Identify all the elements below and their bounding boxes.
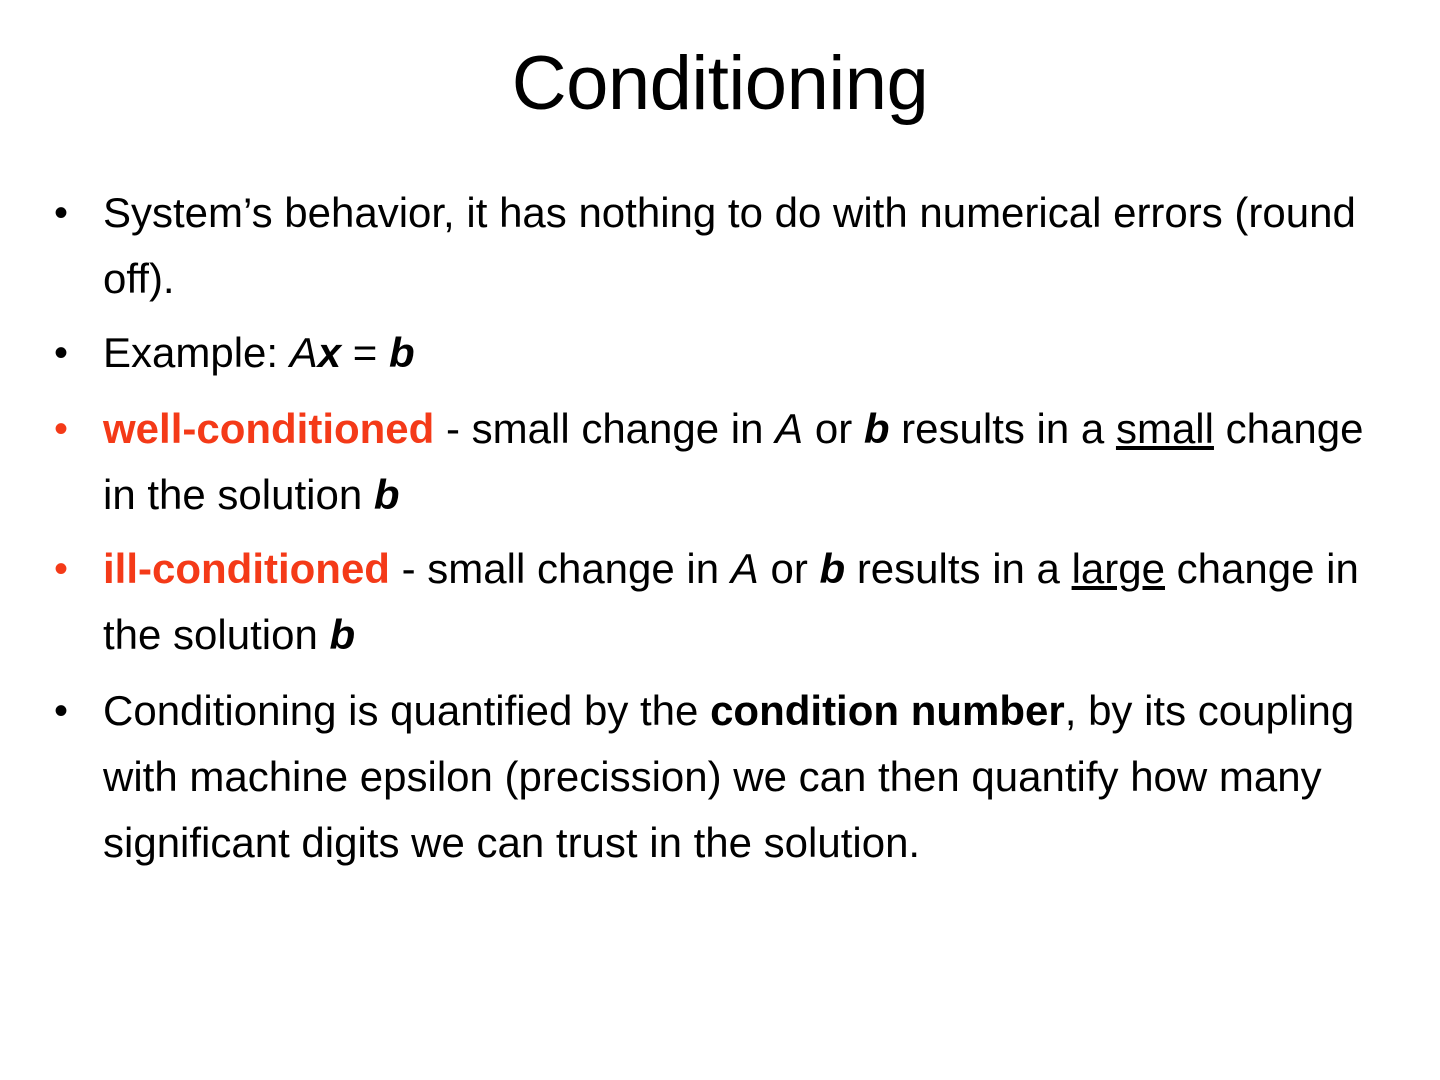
text-run-bold-italic: x <box>318 329 341 376</box>
text-run-accent: well-conditioned <box>103 405 434 452</box>
text-run: - small change in <box>390 545 731 592</box>
text-run-bold: condition number <box>710 687 1065 734</box>
text-run-italic: A <box>775 405 803 452</box>
text-run: Conditioning is quantified by the <box>103 687 710 734</box>
bullet-marker-icon: • <box>54 180 84 246</box>
page-title: Conditioning <box>0 36 1440 132</box>
list-item-text: well-conditioned - small change in A or … <box>103 405 1363 518</box>
bullet-marker-icon: • <box>54 396 84 462</box>
text-run-bold-italic: b <box>864 405 890 452</box>
text-run-bold-italic: b <box>374 471 400 518</box>
list-item: • well-conditioned - small change in A o… <box>45 396 1400 528</box>
text-run: - small change in <box>434 405 775 452</box>
text-run: = <box>341 329 389 376</box>
list-item-text: Conditioning is quantified by the condit… <box>103 687 1354 866</box>
text-run-accent: ill-conditioned <box>103 545 390 592</box>
bullet-list: • System’s behavior, it has nothing to d… <box>45 180 1400 876</box>
list-item: • System’s behavior, it has nothing to d… <box>45 180 1400 312</box>
text-run-bold-italic: b <box>820 545 846 592</box>
list-item-text: ill-conditioned - small change in A or b… <box>103 545 1359 658</box>
bullet-marker-icon: • <box>54 536 84 602</box>
list-item-text: Example: Ax = b <box>103 329 415 376</box>
text-run: Example: <box>103 329 290 376</box>
text-run-italic: A <box>731 545 759 592</box>
text-run: results in a <box>890 405 1116 452</box>
list-item: • Conditioning is quantified by the cond… <box>45 678 1400 876</box>
text-run-bold-italic: b <box>389 329 415 376</box>
list-item: • ill-conditioned - small change in A or… <box>45 536 1400 668</box>
list-item-text: System’s behavior, it has nothing to do … <box>103 189 1356 302</box>
text-run: or <box>759 545 820 592</box>
bullet-marker-icon: • <box>54 320 84 386</box>
text-run: results in a <box>845 545 1071 592</box>
text-run-underline: small <box>1116 405 1214 452</box>
text-run: or <box>803 405 864 452</box>
text-run: System’s behavior, it has nothing to do … <box>103 189 1356 302</box>
text-run-underline: large <box>1072 545 1165 592</box>
text-run-italic: A <box>290 329 318 376</box>
text-run-bold-italic: b <box>330 611 356 658</box>
slide-canvas: Conditioning • System’s behavior, it has… <box>0 0 1440 1080</box>
bullet-marker-icon: • <box>54 678 84 744</box>
list-item: • Example: Ax = b <box>45 320 1400 386</box>
